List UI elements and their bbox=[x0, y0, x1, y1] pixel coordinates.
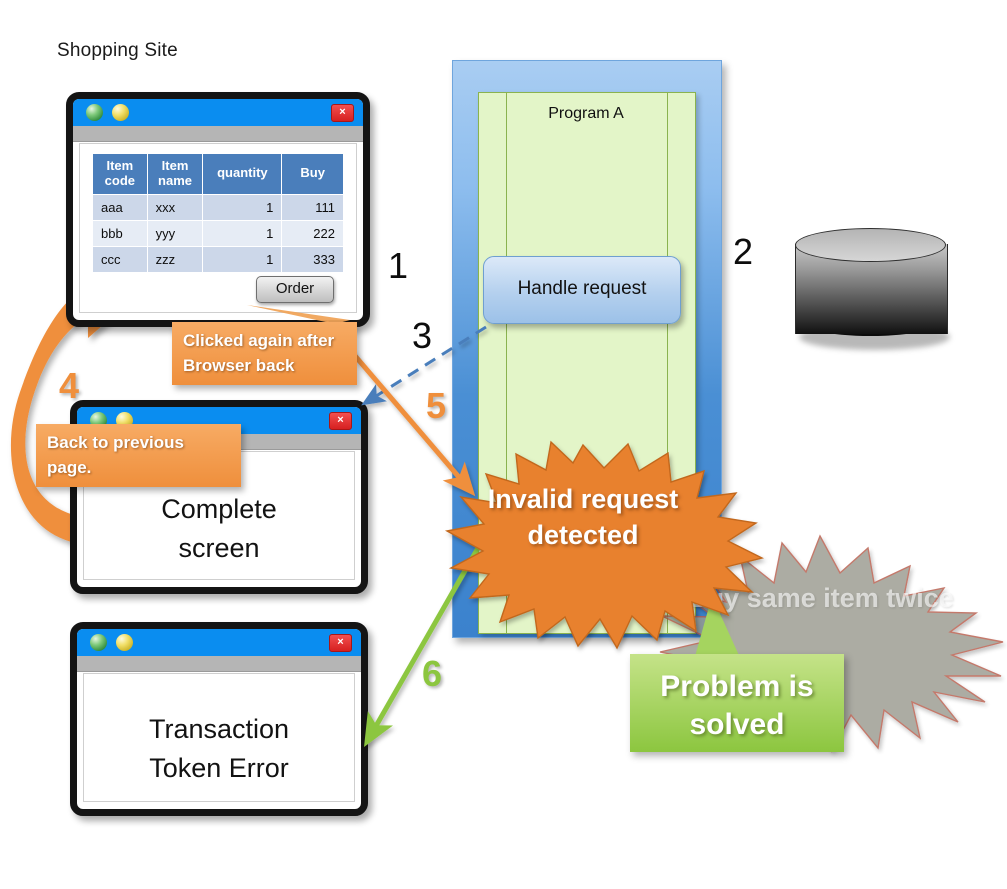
step-number-6: 6 bbox=[422, 656, 442, 692]
callout-problem-solved: Problem is solved bbox=[630, 654, 844, 752]
error-line-1: Transaction bbox=[84, 710, 354, 749]
cell-item-name: zzz bbox=[147, 246, 203, 272]
toolbar bbox=[77, 656, 361, 672]
titlebar: × bbox=[77, 629, 361, 656]
cell-item-code: ccc bbox=[93, 246, 148, 272]
col-item-name: Item name bbox=[147, 154, 203, 195]
cell-quantity: 1 bbox=[203, 220, 282, 246]
items-table: Item code Item name quantity Buy aaa xxx… bbox=[92, 153, 344, 273]
burst-orange-label: Invalid request detected bbox=[452, 481, 714, 554]
complete-line-1: Complete bbox=[84, 490, 354, 529]
table-row: ccc zzz 1 333 bbox=[93, 246, 344, 272]
page-content: Transaction Token Error bbox=[83, 673, 355, 802]
green-orb-icon bbox=[86, 104, 103, 121]
green-orb-icon bbox=[90, 634, 107, 651]
titlebar: × bbox=[73, 99, 363, 126]
col-quantity: quantity bbox=[203, 154, 282, 195]
page-title: Shopping Site bbox=[57, 40, 178, 62]
close-icon[interactable]: × bbox=[331, 104, 354, 122]
error-line-2: Token Error bbox=[84, 749, 354, 788]
col-buy: Buy bbox=[282, 154, 344, 195]
cell-quantity: 1 bbox=[203, 194, 282, 220]
program-a-label: Program A bbox=[478, 105, 694, 123]
server-label: Server bbox=[0, 12, 268, 33]
database-cylinder-icon bbox=[795, 228, 946, 350]
db-top bbox=[795, 228, 946, 262]
yellow-orb-icon bbox=[116, 634, 133, 651]
handle-request-box[interactable]: Handle request bbox=[483, 256, 681, 324]
browser-window-token-error[interactable]: × Transaction Token Error bbox=[70, 622, 368, 816]
callout-clicked-again: Clicked again after Browser back bbox=[172, 322, 357, 385]
col-item-code: Item code bbox=[93, 154, 148, 195]
cell-buy: 333 bbox=[282, 246, 344, 272]
callout-back-to-previous: Back to previous page. bbox=[36, 424, 241, 487]
yellow-orb-icon bbox=[112, 104, 129, 121]
close-icon[interactable]: × bbox=[329, 412, 352, 430]
problem-solved-text: Problem is solved bbox=[630, 668, 844, 743]
cell-quantity: 1 bbox=[203, 246, 282, 272]
close-icon[interactable]: × bbox=[329, 634, 352, 652]
complete-line-2: screen bbox=[84, 529, 354, 568]
step-number-1: 1 bbox=[388, 248, 408, 284]
cell-item-code: aaa bbox=[93, 194, 148, 220]
step-number-3: 3 bbox=[412, 318, 432, 354]
toolbar bbox=[73, 126, 363, 142]
step-number-5: 5 bbox=[426, 388, 446, 424]
cell-buy: 222 bbox=[282, 220, 344, 246]
order-button[interactable]: Order bbox=[256, 276, 334, 303]
cell-item-code: bbb bbox=[93, 220, 148, 246]
step-number-4: 4 bbox=[59, 368, 79, 404]
step-number-2: 2 bbox=[733, 234, 753, 270]
cell-buy: 111 bbox=[282, 194, 344, 220]
burst-gray-label: Buy same item twice bbox=[636, 583, 1006, 614]
cell-item-name: yyy bbox=[147, 220, 203, 246]
diagram-canvas: Shopping Site × Item code Item name bbox=[0, 0, 1007, 889]
table-row: aaa xxx 1 111 bbox=[93, 194, 344, 220]
cell-item-name: xxx bbox=[147, 194, 203, 220]
table-row: bbb yyy 1 222 bbox=[93, 220, 344, 246]
table-header-row: Item code Item name quantity Buy bbox=[93, 154, 344, 195]
